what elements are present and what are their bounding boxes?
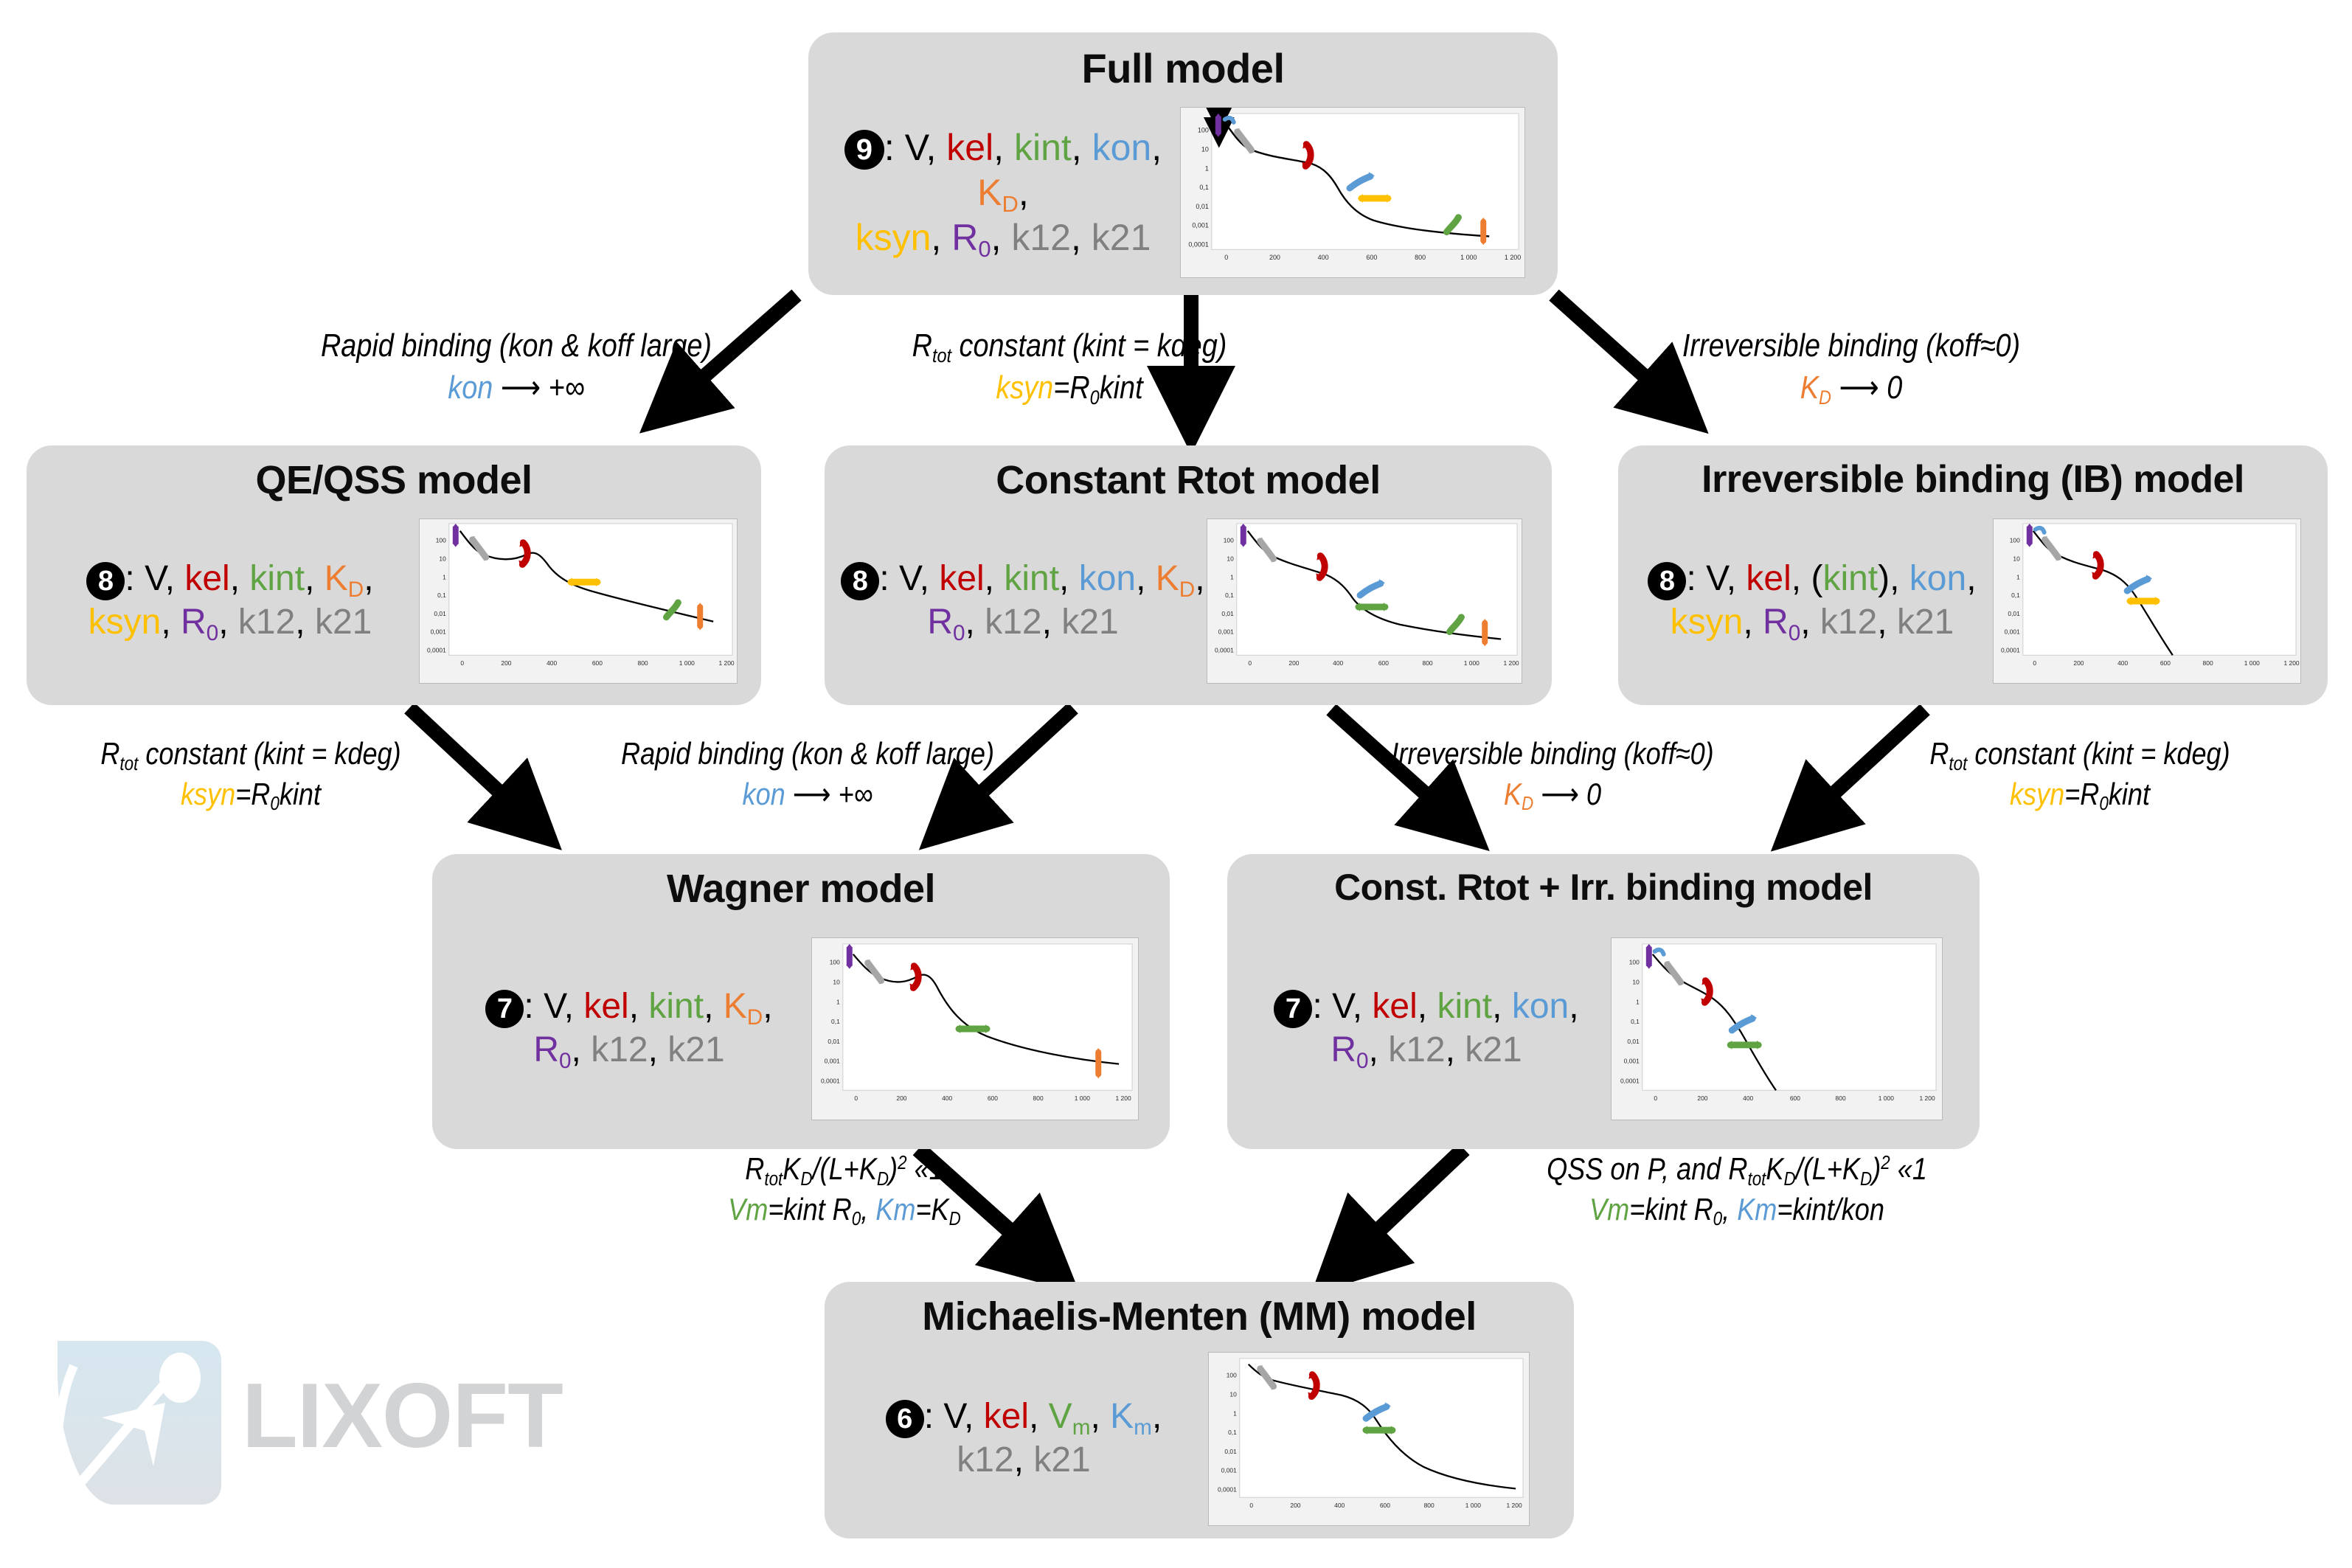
svg-text:0,01: 0,01 [1224,1448,1237,1455]
svg-text:1 200: 1 200 [1116,1095,1131,1102]
transition-label-const-irr-to-mm: QSS on P, and RtotKD/(L+KD)2 «1 Vm=kint … [1496,1149,1978,1229]
param-count-badge: 6 [886,1400,924,1438]
model-title-const-rtot-irr-binding: Const. Rtot + Irr. binding model [1227,866,1980,909]
svg-text:1 000: 1 000 [679,659,695,667]
svg-text:0: 0 [1224,254,1228,261]
svg-text:0,01: 0,01 [1221,610,1234,617]
model-title-full: Full model [808,44,1558,92]
svg-text:1 000: 1 000 [1465,1502,1481,1509]
param-count-badge: 7 [485,990,524,1028]
svg-text:100: 100 [436,537,446,544]
svg-text:0,001: 0,001 [825,1058,840,1065]
svg-text:200: 200 [501,659,511,667]
svg-text:0: 0 [854,1095,858,1102]
svg-text:0,01: 0,01 [1627,1038,1640,1045]
svg-text:1: 1 [1636,998,1640,1005]
svg-text:200: 200 [1290,1502,1300,1509]
svg-text:10: 10 [1201,146,1209,153]
param-count-badge: 8 [1648,562,1686,600]
transition-label-qeqss-to-wagner: Rtot constant (kint = kdeg) ksyn=R0kint [48,734,454,814]
model-params-michaelis-menten: 6: V, kel, Vm, Km, k12, k21 [839,1395,1208,1482]
transition-label-full-to-constant-rtot: Rtot constant (kint = kdeg) ksyn=R0kint [867,325,1272,409]
svg-text:100: 100 [1227,1372,1237,1379]
diagram-canvas: Full model 9: V, kel, kint, kon, KD, ksy… [0,0,2352,1568]
lixoft-logo-text: LIXOFT [242,1370,563,1462]
param-count-badge: 8 [841,562,879,600]
svg-text:0,1: 0,1 [437,592,446,599]
thumbnail-plot-qeqss: 100101 0,10,010,001 0,0001 0200400 60080… [419,518,738,684]
svg-text:600: 600 [592,659,603,667]
svg-text:0,001: 0,001 [431,628,446,636]
svg-text:600: 600 [2160,659,2171,667]
model-title-constant-rtot: Constant Rtot model [825,457,1552,503]
svg-text:1 000: 1 000 [2244,659,2260,667]
thumbnail-plot-irreversible-binding: 100101 0,10,010,001 0,0001 0200400 60080… [1993,518,2301,684]
svg-text:0,0001: 0,0001 [821,1077,840,1084]
svg-text:0,0001: 0,0001 [1215,646,1234,653]
svg-text:0: 0 [460,659,464,667]
svg-text:1 200: 1 200 [1507,1502,1522,1509]
svg-text:1: 1 [1233,1409,1237,1417]
svg-text:1 200: 1 200 [1503,659,1519,667]
svg-text:1 000: 1 000 [1879,1095,1894,1102]
param-count-badge: 7 [1274,990,1312,1028]
svg-text:100: 100 [2010,537,2020,544]
model-params-const-rtot-irr-binding: 7: V, kel, kint, kon, R0, k12, k21 [1242,985,1611,1072]
svg-text:200: 200 [896,1095,906,1102]
svg-text:100: 100 [830,959,840,966]
model-box-const-rtot-irr-binding[interactable]: Const. Rtot + Irr. binding model 7: V, k… [1227,854,1980,1149]
svg-text:1 200: 1 200 [1920,1095,1935,1102]
svg-text:1: 1 [443,573,446,580]
svg-text:0: 0 [1654,1095,1657,1102]
svg-text:0: 0 [1248,659,1252,667]
svg-text:0,0001: 0,0001 [1188,240,1208,248]
model-box-michaelis-menten[interactable]: Michaelis-Menten (MM) model 6: V, kel, V… [825,1282,1574,1538]
model-box-full[interactable]: Full model 9: V, kel, kint, kon, KD, ksy… [808,32,1558,295]
model-box-wagner[interactable]: Wagner model 7: V, kel, kint, KD, R0, k1… [432,854,1170,1149]
svg-text:10: 10 [1229,1391,1237,1398]
transition-label-wagner-to-mm: RtotKD/(L+KD)2 «1 Vm=kint R0, Km=KD [622,1149,1066,1229]
transition-label-full-to-ib: Irreversible binding (koff≈0) KD ⟶ 0 [1636,325,2067,409]
svg-text:100: 100 [1629,959,1640,966]
svg-text:0: 0 [2033,659,2036,667]
transition-label-ib-to-const-irr: Rtot constant (kint = kdeg) ksyn=R0kint [1870,734,2289,814]
svg-text:0,001: 0,001 [1192,222,1208,229]
svg-text:10: 10 [833,979,840,986]
svg-text:800: 800 [2203,659,2213,667]
svg-text:0,001: 0,001 [1624,1058,1640,1065]
transition-label-constant-rtot-to-wagner: Rapid binding (kon & koff large) kon ⟶ +… [561,734,1055,814]
svg-text:0,01: 0,01 [828,1038,840,1045]
svg-text:1 000: 1 000 [1460,254,1477,261]
thumbnail-plot-const-rtot-irr-binding: 100101 0,10,010,001 0,0001 0200400 60080… [1611,937,1943,1120]
model-box-qeqss[interactable]: QE/QSS model 8: V, kel, kint, KD, ksyn, … [27,445,761,705]
svg-text:10: 10 [2013,555,2020,563]
model-title-qeqss: QE/QSS model [27,457,761,503]
svg-text:400: 400 [942,1095,952,1102]
svg-text:10: 10 [439,555,446,563]
svg-text:0,1: 0,1 [1199,184,1208,191]
svg-text:400: 400 [1333,659,1343,667]
svg-text:1: 1 [836,998,840,1005]
svg-text:800: 800 [1836,1095,1846,1102]
svg-text:0,01: 0,01 [434,610,446,617]
transition-label-full-to-qeqss: Rapid binding (kon & koff large) kon ⟶ +… [269,325,764,409]
svg-text:800: 800 [1415,254,1426,261]
svg-text:1: 1 [1230,573,1234,580]
model-params-qeqss: 8: V, kel, kint, KD, ksyn, R0, k12, k21 [41,558,419,644]
model-params-full: 9: V, kel, kint, kon, KD, ksyn, R0, k12,… [826,125,1180,260]
svg-text:800: 800 [1424,1502,1435,1509]
model-title-wagner: Wagner model [432,866,1170,912]
transition-label-constant-rtot-to-const-irr: Irreversible binding (koff≈0) KD ⟶ 0 [1333,734,1771,814]
model-box-irreversible-binding[interactable]: Irreversible binding (IB) model 8: V, ke… [1618,445,2328,705]
thumbnail-plot-michaelis-menten: 100101 0,10,010,001 0,0001 0200400 60080… [1208,1352,1530,1526]
model-box-constant-rtot[interactable]: Constant Rtot model 8: V, kel, kint, kon… [825,445,1552,705]
lixoft-logo: LIXOFT [53,1320,614,1512]
svg-text:0,001: 0,001 [1218,628,1234,636]
svg-text:1 200: 1 200 [2283,659,2299,667]
svg-text:200: 200 [1269,254,1280,261]
svg-text:0,0001: 0,0001 [1620,1077,1640,1084]
svg-text:0,001: 0,001 [1221,1467,1237,1474]
thumbnail-plot-wagner: 100101 0,10,010,001 0,0001 0200400 60080… [811,937,1139,1120]
svg-text:200: 200 [1288,659,1299,667]
param-count-badge: 9 [844,130,884,170]
svg-text:800: 800 [1033,1095,1044,1102]
svg-text:400: 400 [547,659,557,667]
svg-text:0,1: 0,1 [2011,592,2020,599]
svg-text:100: 100 [1224,537,1234,544]
svg-text:1: 1 [1205,164,1209,172]
svg-text:0,001: 0,001 [2005,628,2020,636]
svg-text:1 200: 1 200 [1505,254,1521,261]
svg-text:0,01: 0,01 [2008,610,2020,617]
param-count-badge: 8 [86,562,125,600]
model-title-michaelis-menten: Michaelis-Menten (MM) model [825,1294,1574,1339]
svg-text:0,01: 0,01 [1196,203,1208,210]
svg-text:400: 400 [1743,1095,1753,1102]
thumbnail-plot-constant-rtot: 100101 0,10,010,001 0,0001 0200400 60080… [1207,518,1522,684]
svg-text:1 000: 1 000 [1075,1095,1090,1102]
svg-text:200: 200 [1697,1095,1707,1102]
svg-text:0,1: 0,1 [1225,592,1234,599]
svg-text:1: 1 [2016,573,2020,580]
svg-text:600: 600 [1790,1095,1800,1102]
svg-text:600: 600 [1380,1502,1390,1509]
thumbnail-plot-full: 100101 0,10,010,001 0,0001 0200400 60080… [1180,107,1525,278]
svg-text:200: 200 [2073,659,2084,667]
svg-text:0,1: 0,1 [1228,1429,1237,1436]
svg-text:800: 800 [638,659,648,667]
svg-text:10: 10 [1227,555,1234,563]
svg-text:0: 0 [1249,1502,1253,1509]
svg-text:1 000: 1 000 [1464,659,1479,667]
svg-text:600: 600 [988,1095,998,1102]
svg-text:800: 800 [1423,659,1433,667]
svg-text:10: 10 [1632,979,1640,986]
svg-text:1 200: 1 200 [718,659,734,667]
svg-text:0,1: 0,1 [1631,1018,1640,1025]
svg-text:600: 600 [1378,659,1389,667]
lixoft-logo-mark [53,1328,223,1505]
svg-text:0,1: 0,1 [831,1018,840,1025]
svg-text:400: 400 [1318,254,1329,261]
model-title-irreversible-binding: Irreversible binding (IB) model [1618,457,2328,502]
svg-text:0,0001: 0,0001 [427,646,446,653]
model-params-constant-rtot: 8: V, kel, kint, kon, KD, R0, k12, k21 [839,558,1207,644]
svg-text:0,0001: 0,0001 [1218,1485,1237,1493]
svg-text:600: 600 [1366,254,1377,261]
svg-text:100: 100 [1198,127,1209,134]
svg-text:400: 400 [2117,659,2128,667]
svg-text:0,0001: 0,0001 [2001,646,2020,653]
svg-text:400: 400 [1334,1502,1345,1509]
model-params-irreversible-binding: 8: V, kel, (kint), kon, ksyn, R0, k12, k… [1631,558,1993,644]
model-params-wagner: 7: V, kel, kint, KD, R0, k12, k21 [447,985,811,1072]
